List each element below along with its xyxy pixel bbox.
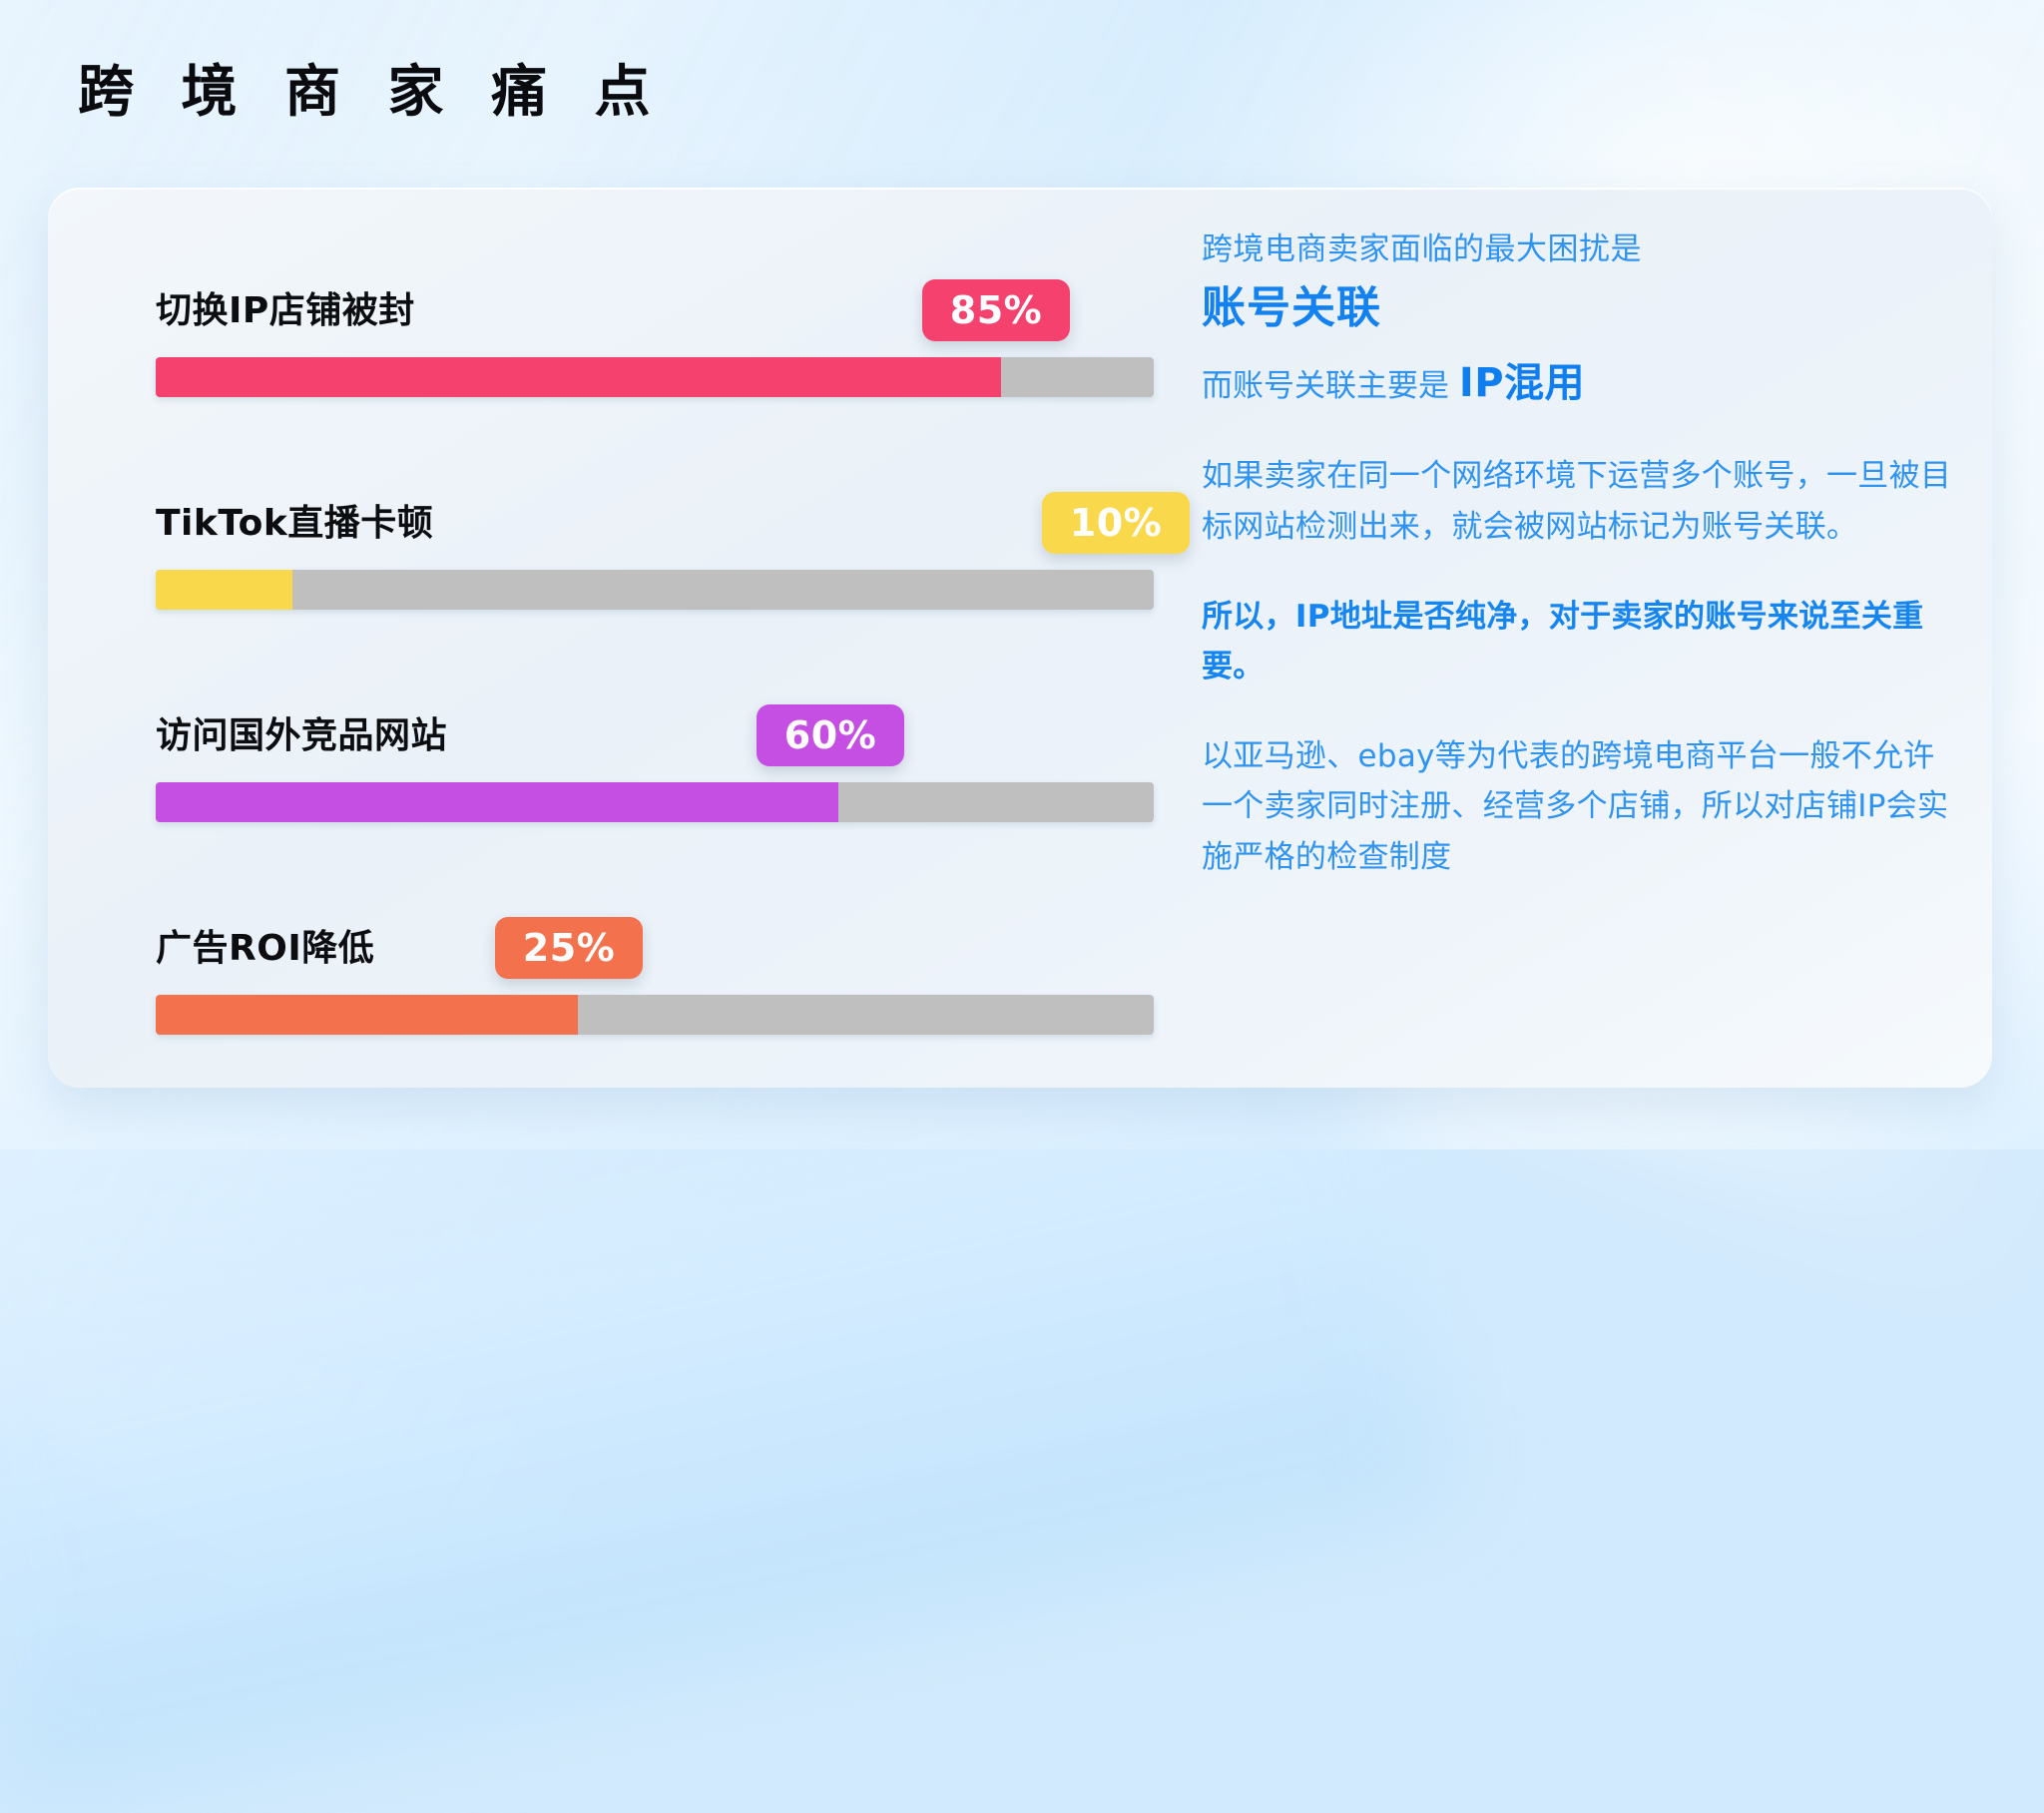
bar-value-badge: 25% bbox=[495, 917, 643, 979]
panel-sub-prefix: 而账号关联主要是 bbox=[1202, 368, 1449, 404]
bar-track bbox=[156, 995, 1154, 1035]
bar-label: 访问国外竞品网站 bbox=[156, 706, 447, 758]
bar-value-badge: 85% bbox=[922, 279, 1070, 341]
bar-track bbox=[156, 782, 1154, 822]
bar-fill bbox=[156, 782, 838, 822]
bar-value-text: 85% bbox=[950, 288, 1042, 332]
bar-label: TikTok直播卡顿 bbox=[156, 494, 433, 546]
page-title: 跨 境 商 家 痛 点 bbox=[78, 62, 664, 124]
chart-row: TikTok直播卡顿 10% bbox=[108, 460, 1166, 610]
bar-label: 广告ROI降低 bbox=[156, 919, 374, 971]
panel-headline: 账号关联 bbox=[1202, 278, 1960, 337]
bar-value-text: 10% bbox=[1070, 501, 1162, 545]
chart-row: 切换IP店铺被封 85% bbox=[108, 247, 1166, 397]
chart-row: 广告ROI降低 25% bbox=[108, 885, 1166, 1035]
panel-paragraph-2: 所以，IP地址是否纯净，对于卖家的账号来说至关重要。 bbox=[1202, 592, 1960, 691]
bar-track bbox=[156, 357, 1154, 397]
bar-value-text: 60% bbox=[784, 713, 876, 757]
panel-sub-highlight: IP混用 bbox=[1459, 360, 1585, 406]
explanation-panel: 跨境电商卖家面临的最大困扰是 账号关联 而账号关联主要是 IP混用 如果卖家在同… bbox=[1202, 227, 1960, 882]
panel-intro-line: 跨境电商卖家面临的最大困扰是 bbox=[1202, 227, 1960, 272]
panel-subline: 而账号关联主要是 IP混用 bbox=[1202, 355, 1960, 411]
bar-value-badge: 60% bbox=[757, 704, 904, 766]
panel-paragraph-3: 以亚马逊、ebay等为代表的跨境电商平台一般不允许一个卖家同时注册、经营多个店铺… bbox=[1202, 731, 1960, 882]
bar-label: 切换IP店铺被封 bbox=[156, 281, 415, 333]
bar-value-badge: 10% bbox=[1042, 492, 1190, 554]
chart-row: 访问国外竞品网站 60% bbox=[108, 673, 1166, 822]
content-card: 切换IP店铺被封 85% TikTok直播卡顿 10% 访问国外竞品网站 60% bbox=[48, 188, 1992, 1088]
panel-paragraph-1: 如果卖家在同一个网络环境下运营多个账号，一旦被目标网站检测出来，就会被网站标记为… bbox=[1202, 451, 1960, 551]
bar-fill bbox=[156, 570, 292, 610]
pain-point-bar-chart: 切换IP店铺被封 85% TikTok直播卡顿 10% 访问国外竞品网站 60% bbox=[108, 247, 1166, 1036]
bar-fill bbox=[156, 357, 1001, 397]
bar-value-text: 25% bbox=[523, 926, 615, 970]
bar-track bbox=[156, 570, 1154, 610]
bar-fill bbox=[156, 995, 578, 1035]
